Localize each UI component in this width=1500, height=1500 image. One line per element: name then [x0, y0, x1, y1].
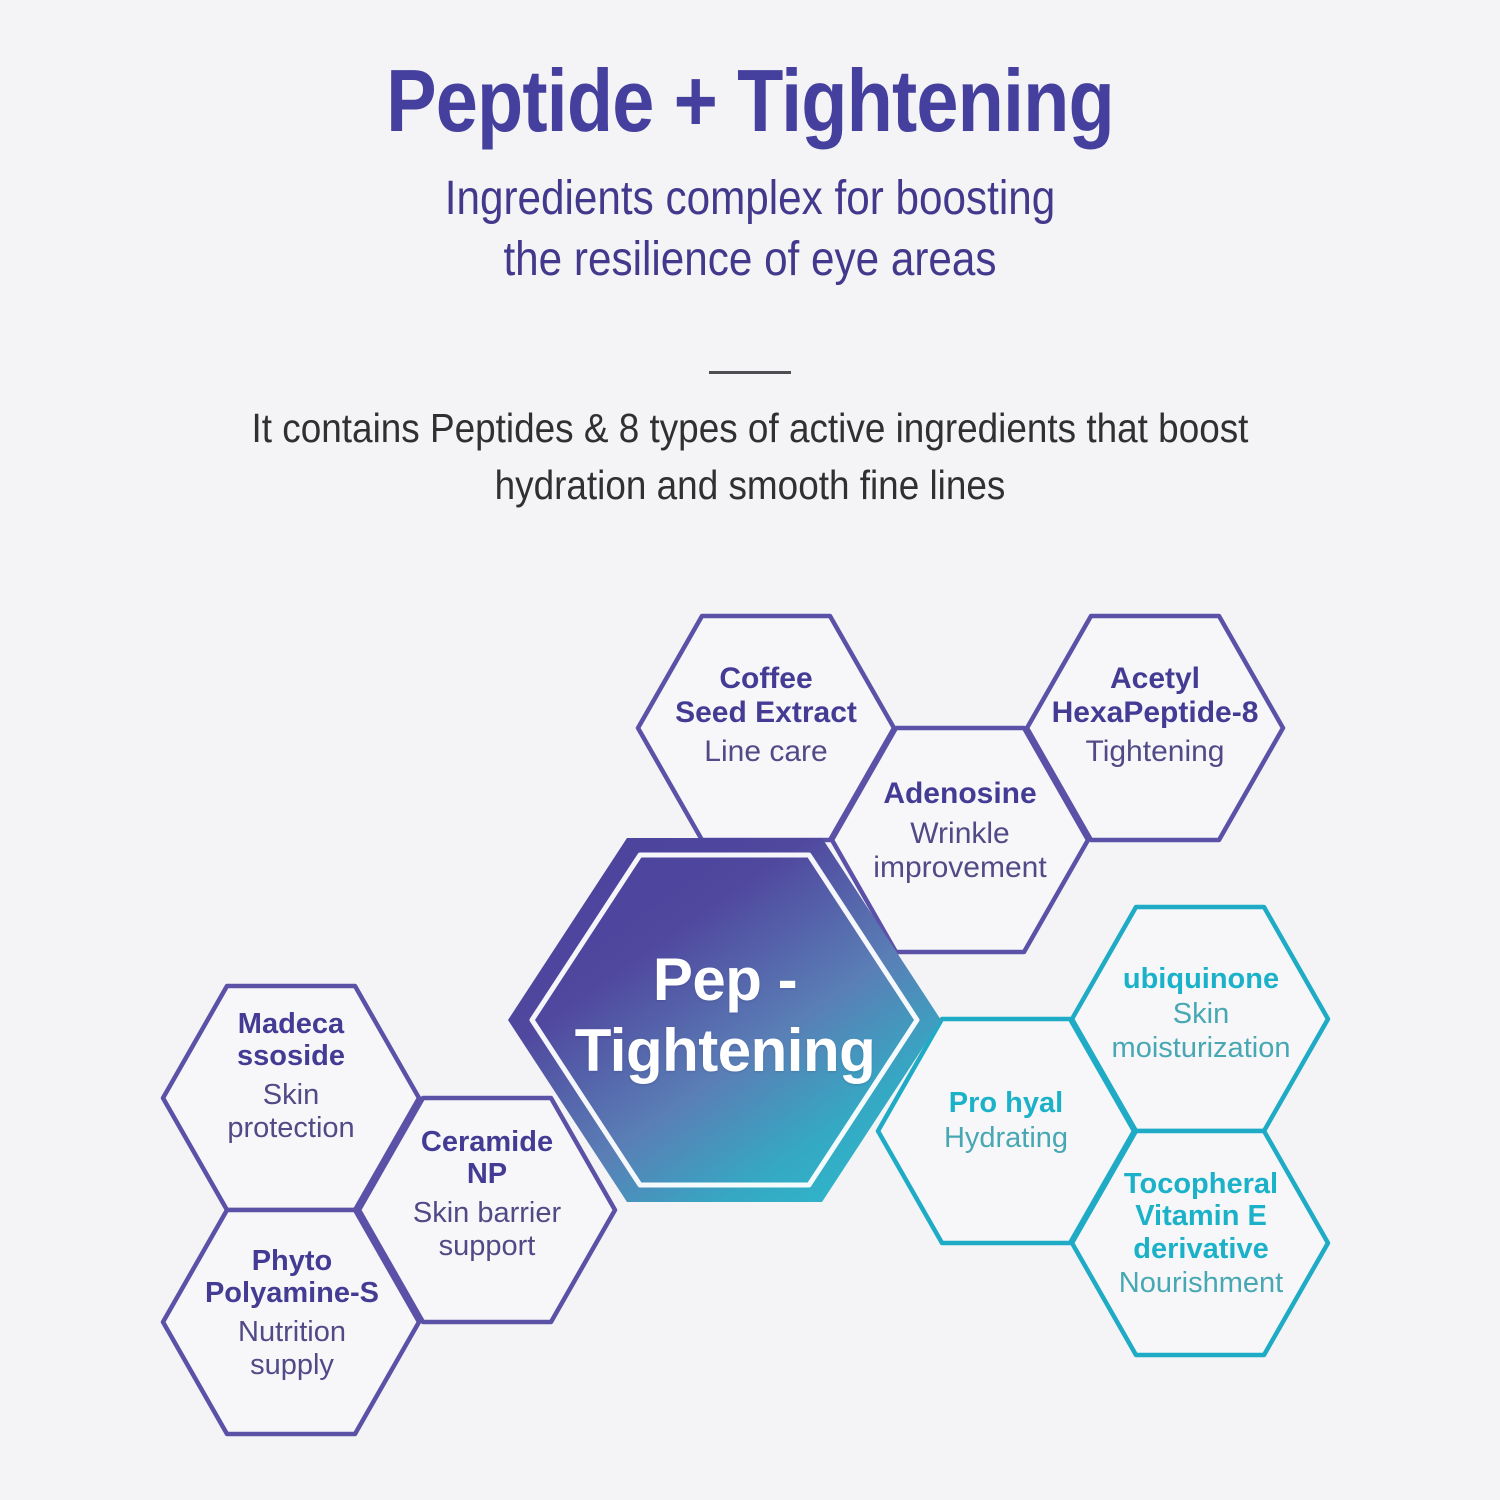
infographic-page: Peptide + Tightening Ingredients complex… — [0, 0, 1500, 1500]
honeycomb-svg — [0, 0, 1500, 1500]
ingredient-honeycomb-diagram: Coffee Seed Extract Line care Adenosine … — [0, 0, 1500, 1500]
